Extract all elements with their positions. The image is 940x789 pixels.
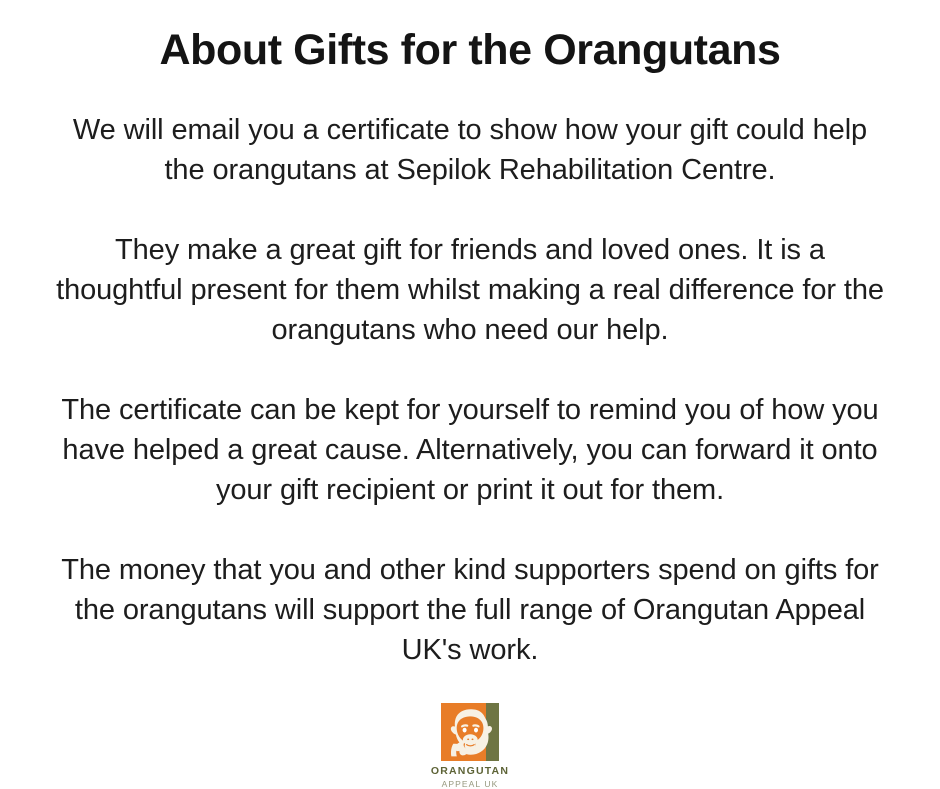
paragraph-funds-use: The money that you and other kind suppor… bbox=[55, 550, 885, 670]
paragraph-certificate-use: The certificate can be kept for yourself… bbox=[55, 390, 885, 510]
orangutan-face-icon bbox=[441, 703, 499, 761]
orangutan-appeal-uk-logo: ORANGUTAN APPEAL UK bbox=[431, 703, 509, 789]
paragraph-intro: We will email you a certificate to show … bbox=[55, 110, 885, 190]
logo-mark bbox=[441, 703, 499, 761]
logo-wordmark: ORANGUTAN bbox=[431, 766, 509, 778]
about-gifts-page: About Gifts for the Orangutans We will e… bbox=[0, 0, 940, 788]
page-title: About Gifts for the Orangutans bbox=[40, 0, 900, 74]
body-copy: We will email you a certificate to show … bbox=[55, 74, 885, 670]
paragraph-gift-idea: They make a great gift for friends and l… bbox=[55, 230, 885, 350]
